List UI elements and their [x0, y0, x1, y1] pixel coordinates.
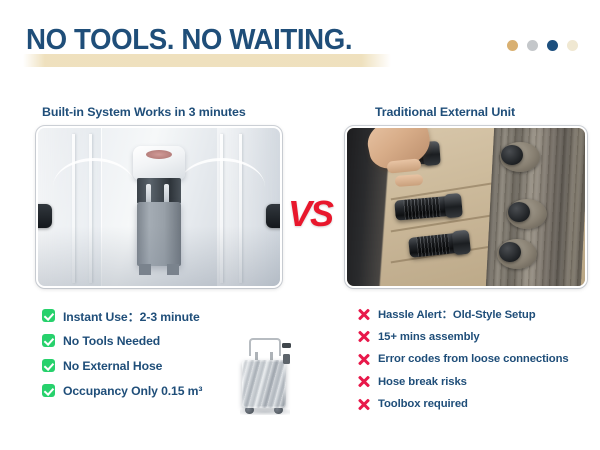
dot-cream-icon — [567, 40, 578, 51]
check-icon — [42, 384, 55, 397]
list-item: Toolbox required — [357, 393, 569, 416]
page-title-wrap: NO TOOLS. NO WAITING. — [26, 26, 362, 55]
list-item-label: No External Hose — [63, 359, 162, 373]
suitcase-body — [242, 360, 286, 408]
right-column-heading: Traditional External Unit — [375, 105, 515, 119]
list-item-label: Hose break risks — [378, 376, 467, 388]
list-item: No External Hose — [42, 353, 202, 378]
list-item: Instant Use：2-3 minute — [42, 303, 202, 328]
list-item-label: 15+ mins assembly — [378, 331, 480, 343]
list-item: Hassle Alert：Old-Style Setup — [357, 303, 569, 326]
page-title: NO TOOLS. NO WAITING. — [26, 26, 352, 55]
list-item-label: Toolbox required — [378, 398, 468, 410]
list-item: 15+ mins assembly — [357, 326, 569, 349]
dot-silver-icon — [527, 40, 538, 51]
list-item-label: Occupancy Only 0.15 m³ — [63, 384, 202, 398]
drawbacks-list: Hassle Alert：Old-Style Setup 15+ mins as… — [357, 303, 569, 416]
suitcase-handle — [249, 338, 281, 356]
water-unit-head — [133, 146, 185, 180]
benefits-list: Instant Use：2-3 minute No Tools Needed N… — [42, 303, 202, 403]
aluminum-suitcase-image — [236, 338, 294, 414]
slide-root: NO TOOLS. NO WAITING. Built-in System Wo… — [0, 0, 600, 450]
photo-floor-shadow — [38, 226, 280, 286]
check-icon — [42, 359, 55, 372]
header: NO TOOLS. NO WAITING. — [0, 0, 600, 88]
cross-icon — [357, 308, 370, 321]
list-item: Hose break risks — [357, 371, 569, 394]
list-item-label: No Tools Needed — [63, 334, 160, 348]
cross-icon — [357, 353, 370, 366]
cross-icon — [357, 398, 370, 411]
water-unit-neck — [137, 178, 181, 204]
list-item-label: Error codes from loose connections — [378, 353, 569, 365]
dot-gold-icon — [507, 40, 518, 51]
suitcase-lock — [283, 354, 290, 364]
dot-navy-icon — [547, 40, 558, 51]
traditional-unit-photo — [345, 126, 587, 288]
left-column-heading: Built-in System Works in 3 minutes — [42, 105, 246, 119]
suitcase-latch — [282, 343, 291, 348]
list-item: Error codes from loose connections — [357, 348, 569, 371]
list-item: Occupancy Only 0.15 m³ — [42, 378, 202, 403]
suitcase-shadow — [240, 409, 290, 415]
cross-icon — [357, 330, 370, 343]
cross-icon — [357, 375, 370, 388]
list-item: No Tools Needed — [42, 328, 202, 353]
vs-badge: VS — [288, 196, 332, 232]
check-icon — [42, 309, 55, 322]
built-in-system-photo — [36, 126, 282, 288]
housing-latch-right — [266, 204, 282, 228]
wall-port — [499, 242, 521, 262]
decorative-dots — [507, 40, 578, 51]
housing-latch-left — [36, 204, 52, 228]
hose-coupling — [408, 233, 466, 259]
check-icon — [42, 334, 55, 347]
list-item-label: Hassle Alert：Old-Style Setup — [378, 306, 536, 322]
list-item-label: Instant Use：2-3 minute — [63, 307, 200, 325]
